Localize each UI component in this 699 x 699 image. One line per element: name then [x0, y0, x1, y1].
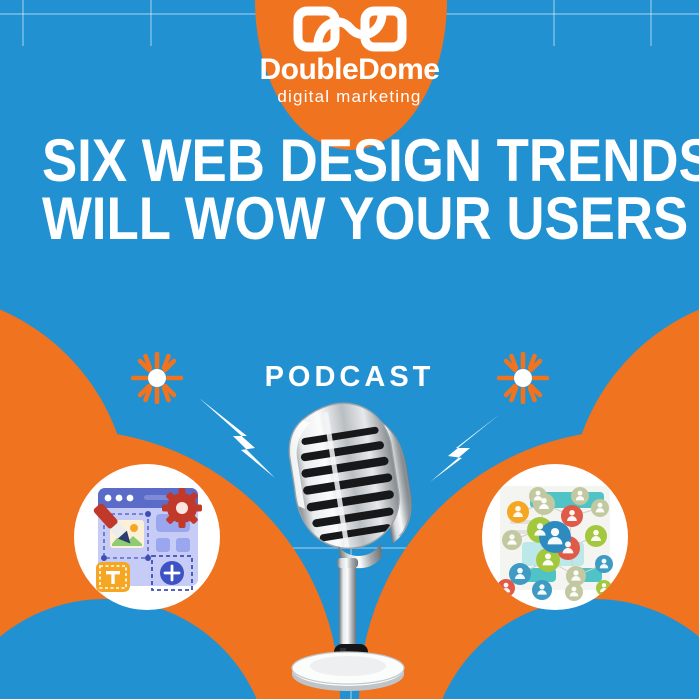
doubledome-interlocking-loops-icon: [288, 6, 412, 52]
social-network-icon: [482, 464, 628, 610]
headline-line-1: SIX WEB DESIGN TRENDS THAT: [42, 132, 657, 190]
podcast-label: PODCAST: [0, 361, 699, 394]
web-design-tools-illustration: [74, 464, 220, 610]
logo-name: DoubleDome: [0, 54, 699, 86]
web-design-tools-icon: [74, 464, 220, 610]
logo-tagline: digital marketing: [0, 87, 699, 107]
lightning-bolt-icon: [424, 408, 504, 488]
social-network-users-illustration: [482, 464, 628, 610]
headline-line-2: WILL WOW YOUR USERS: [42, 190, 657, 248]
brand-logo: DoubleDome digital marketing: [0, 6, 699, 107]
page-title: SIX WEB DESIGN TRENDS THAT WILL WOW YOUR…: [42, 132, 657, 247]
retro-microphone-icon: [274, 392, 426, 692]
podcast-promo-poster: DoubleDome digital marketing SIX WEB DES…: [0, 0, 699, 699]
